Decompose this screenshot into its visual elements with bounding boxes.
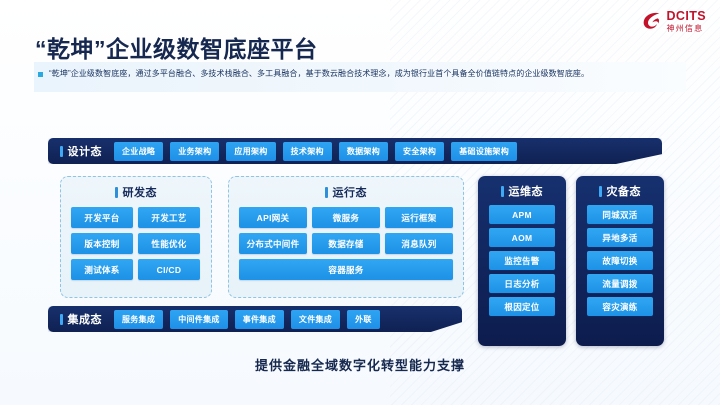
dr-state-label: 灾备态 [607,183,642,199]
integration-chip[interactable]: 外联 [347,310,380,329]
runtime-tile[interactable]: 分布式中间件 [239,233,307,254]
runtime-tile-grid: API网关 微服务 运行框架 分布式中间件 数据存储 消息队列 容器服务 [229,200,463,280]
dr-tile-list: 同城双活 异地多活 故障切换 流量调拨 容灾演练 [576,199,664,316]
rd-tile[interactable]: CI/CD [138,259,200,280]
ops-tile[interactable]: 日志分析 [489,274,555,293]
runtime-state-panel: 运行态 API网关 微服务 运行框架 分布式中间件 数据存储 消息队列 容器服务 [228,176,464,298]
dr-tile[interactable]: 流量调拨 [587,274,653,293]
dr-tile[interactable]: 故障切换 [587,251,653,270]
footer-caption: 提供金融全域数字化转型能力支撑 [0,355,720,374]
ops-state-panel: 运维态 APM AOM 监控告警 日志分析 根因定位 [478,176,566,346]
logo-name-cn: 神州信息 [667,25,707,33]
rd-state-title-group: 研发态 [61,184,211,200]
accent-tick-icon [599,186,602,197]
rd-tile[interactable]: 性能优化 [138,233,200,254]
design-chip[interactable]: 应用架构 [226,142,275,161]
runtime-tile[interactable]: API网关 [239,207,307,228]
logo-name-en: DCITS [667,10,707,23]
runtime-tile[interactable]: 消息队列 [385,233,453,254]
design-state-label: 设计态 [68,143,103,159]
design-state-bar: 设计态 企业战略 业务架构 应用架构 技术架构 数据架构 安全架构 基础设施架构 [48,138,662,164]
accent-tick-icon [501,186,504,197]
design-chip[interactable]: 技术架构 [283,142,332,161]
design-chip[interactable]: 企业战略 [114,142,163,161]
subtitle-text: “乾坤”企业级数智底座，通过多平台融合、多技术栈融合、多工具融合，基于数云融合技… [49,68,589,79]
ops-tile[interactable]: AOM [489,228,555,247]
dr-tile[interactable]: 容灾演练 [587,297,653,316]
slide-root: DCITS 神州信息 “乾坤”企业级数智底座平台 “乾坤”企业级数智底座，通过多… [0,0,720,405]
accent-tick-icon [325,187,328,198]
bullet-square-icon [38,72,43,77]
rd-tile-grid: 开发平台 开发工艺 版本控制 性能优化 测试体系 CI/CD [61,200,211,280]
architecture-diagram: 设计态 企业战略 业务架构 应用架构 技术架构 数据架构 安全架构 基础设施架构… [0,120,720,350]
design-chip[interactable]: 基础设施架构 [451,142,517,161]
runtime-state-title-group: 运行态 [229,184,463,200]
design-chip-list: 企业战略 业务架构 应用架构 技术架构 数据架构 安全架构 基础设施架构 [114,142,517,161]
design-state-label-group: 设计态 [60,143,102,159]
rd-state-label: 研发态 [123,184,158,200]
runtime-tile[interactable]: 微服务 [312,207,380,228]
subtitle-row: “乾坤”企业级数智底座，通过多平台融合、多技术栈融合、多工具融合，基于数云融合技… [38,68,688,79]
dr-state-panel: 灾备态 同城双活 异地多活 故障切换 流量调拨 容灾演练 [576,176,664,346]
rd-state-panel: 研发态 开发平台 开发工艺 版本控制 性能优化 测试体系 CI/CD [60,176,212,298]
dcits-swirl-icon [641,10,663,32]
runtime-tile[interactable]: 运行框架 [385,207,453,228]
runtime-state-label: 运行态 [333,184,368,200]
dr-tile[interactable]: 异地多活 [587,228,653,247]
ops-tile[interactable]: 根因定位 [489,297,555,316]
integration-chip[interactable]: 中间件集成 [170,310,228,329]
integration-chip-list: 服务集成 中间件集成 事件集成 文件集成 外联 [114,310,380,329]
accent-tick-icon [115,187,118,198]
integration-chip[interactable]: 事件集成 [235,310,284,329]
integration-state-label: 集成态 [68,311,103,327]
ops-state-title-group: 运维态 [478,183,566,199]
logo-text: DCITS 神州信息 [667,10,707,33]
design-chip[interactable]: 业务架构 [170,142,219,161]
dr-tile[interactable]: 同城双活 [587,205,653,224]
rd-tile[interactable]: 开发平台 [71,207,133,228]
brand-logo: DCITS 神州信息 [641,10,707,33]
dr-state-title-group: 灾备态 [576,183,664,199]
ops-tile[interactable]: APM [489,205,555,224]
rd-tile[interactable]: 版本控制 [71,233,133,254]
integration-chip[interactable]: 文件集成 [291,310,340,329]
rd-tile[interactable]: 测试体系 [71,259,133,280]
accent-tick-icon [60,314,63,325]
accent-tick-icon [60,146,63,157]
ops-tile-list: APM AOM 监控告警 日志分析 根因定位 [478,199,566,316]
ops-state-label: 运维态 [509,183,544,199]
design-chip[interactable]: 安全架构 [395,142,444,161]
page-title: “乾坤”企业级数智底座平台 [35,30,318,64]
integration-state-bar: 集成态 服务集成 中间件集成 事件集成 文件集成 外联 [48,306,462,332]
runtime-tile-container-service[interactable]: 容器服务 [239,259,453,280]
runtime-tile[interactable]: 数据存储 [312,233,380,254]
design-chip[interactable]: 数据架构 [339,142,388,161]
integration-state-label-group: 集成态 [60,311,102,327]
ops-tile[interactable]: 监控告警 [489,251,555,270]
integration-chip[interactable]: 服务集成 [114,310,163,329]
rd-tile[interactable]: 开发工艺 [138,207,200,228]
